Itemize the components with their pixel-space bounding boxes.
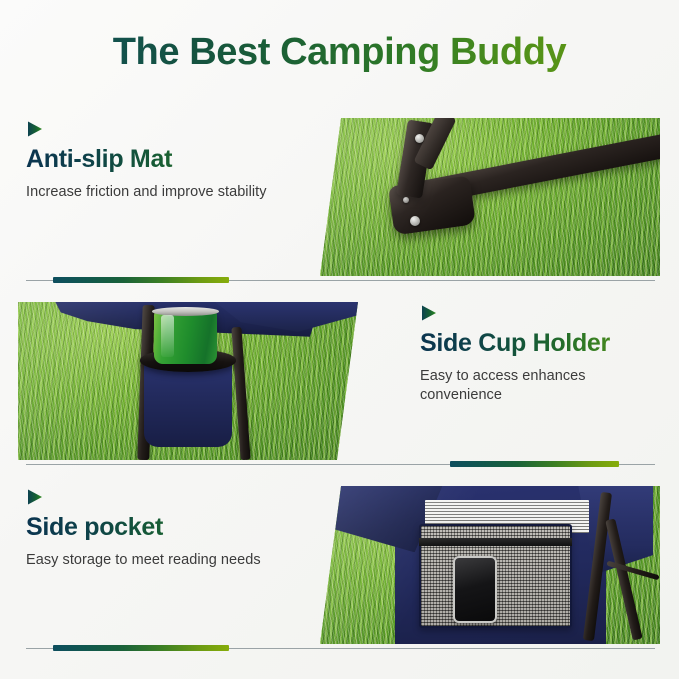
feature-heading: Anti-slip Mat xyxy=(26,145,316,175)
divider-accent-bar xyxy=(450,461,619,467)
soda-can-highlight xyxy=(161,315,175,358)
feature-description: Increase friction and improve stability xyxy=(26,183,316,202)
feature-description: Easy to access enhances convenience xyxy=(420,367,670,405)
feature-description: Easy storage to meet reading needs xyxy=(26,551,316,570)
section-divider xyxy=(0,645,679,651)
feature-image-side-pocket xyxy=(320,486,660,644)
divider-accent-bar xyxy=(53,277,229,283)
section-divider xyxy=(0,461,679,467)
rivet-icon xyxy=(415,134,424,143)
play-triangle-icon xyxy=(26,120,44,138)
pocket-trim-band xyxy=(419,538,572,546)
feature-heading: Side Cup Holder xyxy=(420,329,670,359)
divider-accent-bar xyxy=(53,645,229,651)
feature-section-side-pocket: Side pocket Easy storage to meet reading… xyxy=(0,480,679,650)
section-divider xyxy=(0,277,679,283)
play-triangle-icon xyxy=(420,304,438,322)
feature-copy: Anti-slip Mat Increase friction and impr… xyxy=(26,120,316,202)
feature-image-side-cup-holder xyxy=(18,302,358,460)
feature-section-side-cup-holder: Side Cup Holder Easy to access enhances … xyxy=(0,296,679,466)
feature-image-anti-slip-mat xyxy=(320,118,660,276)
cup-holder-pouch xyxy=(144,359,232,447)
grass-background xyxy=(320,118,660,276)
feature-section-anti-slip-mat: Anti-slip Mat Increase friction and impr… xyxy=(0,112,679,282)
page-title: The Best Camping Buddy xyxy=(0,0,679,73)
play-triangle-icon xyxy=(26,488,44,506)
smartphone xyxy=(453,556,497,624)
feature-copy: Side pocket Easy storage to meet reading… xyxy=(26,488,316,570)
feature-heading: Side pocket xyxy=(26,513,316,543)
rivet-icon xyxy=(410,216,420,226)
feature-copy: Side Cup Holder Easy to access enhances … xyxy=(420,304,670,405)
